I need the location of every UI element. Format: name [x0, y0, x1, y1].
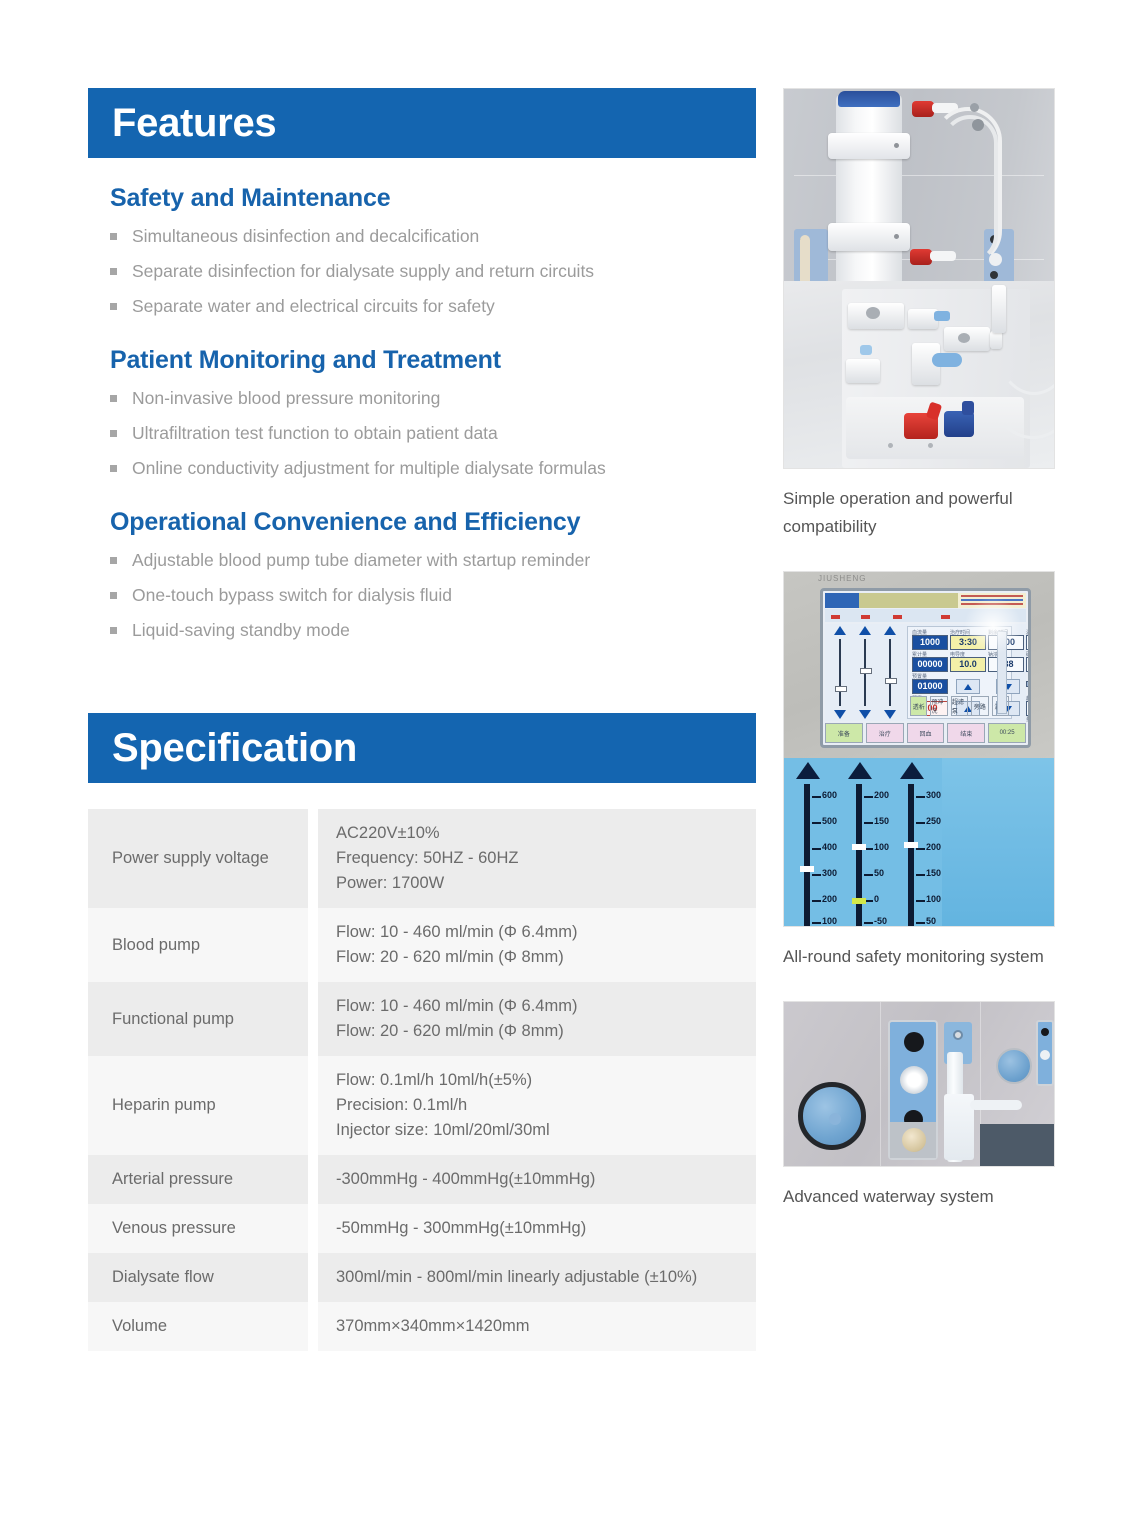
specification-band: Specification — [88, 713, 756, 783]
table-row: Functional pump Flow: 10 - 460 ml/min (Φ… — [88, 982, 756, 1056]
spec-value: 370mm×340mm×1420mm — [318, 1302, 756, 1351]
feature-bullet-list: Simultaneous disinfection and decalcific… — [88, 219, 756, 324]
bullet-square-icon — [110, 303, 117, 310]
triangle-up-icon[interactable] — [884, 626, 896, 635]
figures-column: Simple operation and powerful compatibil… — [783, 88, 1055, 1211]
screen-button[interactable]: 治疗 — [866, 723, 904, 743]
connector-port-dark — [1041, 1028, 1049, 1036]
table-row: Dialysate flow 300ml/min - 800ml/min lin… — [88, 1253, 756, 1302]
red-connector-upper — [912, 101, 934, 117]
panel-seam — [880, 1002, 881, 1166]
bullet-square-icon — [110, 557, 117, 564]
feature-bullet-item: Ultrafiltration test function to obtain … — [110, 416, 756, 451]
spec-label: Volume — [88, 1302, 308, 1351]
table-row: Heparin pump Flow: 0.1ml/h 10ml/h(±5%) P… — [88, 1056, 756, 1155]
figure-control-panel: JIUSHENG — [783, 571, 1055, 971]
features-body: Safety and Maintenance Simultaneous disi… — [88, 158, 756, 648]
panel-port — [970, 103, 979, 112]
triangle-down-icon[interactable] — [884, 710, 896, 719]
spec-label: Functional pump — [88, 982, 308, 1056]
bracket-hole — [990, 271, 998, 279]
feature-group-patient-monitoring-and-treatment: Patient Monitoring and Treatment Non-inv… — [88, 346, 756, 486]
value-field[interactable]: 1000 — [912, 635, 948, 650]
table-row: Blood pump Flow: 10 - 460 ml/min (Φ 6.4m… — [88, 908, 756, 982]
screen-timer: 00:25 — [988, 723, 1026, 743]
screen-button[interactable]: 旁路 — [971, 696, 988, 716]
menu-marker — [941, 615, 950, 619]
progress-indicator — [1026, 681, 1031, 687]
spec-label: Power supply voltage — [88, 809, 308, 908]
feature-bullet-item: Separate disinfection for dialysate supp… — [110, 254, 756, 289]
value-field[interactable]: 36.4 — [1026, 635, 1031, 650]
bullet-square-icon — [110, 268, 117, 275]
value-field[interactable]: 032 — [1026, 657, 1031, 672]
feature-group-safety-and-maintenance: Safety and Maintenance Simultaneous disi… — [88, 184, 756, 324]
spec-label: Arterial pressure — [88, 1155, 308, 1204]
clamp-screw — [894, 234, 899, 239]
screen-button[interactable]: 超滤泵 — [951, 696, 968, 716]
horizontal-handle — [970, 1100, 1022, 1110]
slider-group — [829, 626, 903, 719]
connector-port-white — [900, 1066, 928, 1094]
feature-bullet-list: Non-invasive blood pressure monitoring U… — [88, 381, 756, 486]
gauge-bar — [856, 784, 862, 926]
table-row: Volume 370mm×340mm×1420mm — [88, 1302, 756, 1351]
spec-value: Flow: 10 - 460 ml/min (Φ 6.4mm) Flow: 20… — [318, 908, 756, 982]
panel-screw — [888, 443, 893, 448]
column-gap — [308, 1302, 318, 1351]
triangle-up-icon[interactable] — [859, 626, 871, 635]
cartridge-clamp-lower — [828, 223, 910, 251]
feature-bullet-item: Liquid-saving standby mode — [110, 613, 756, 648]
feature-bullet-text: One-touch bypass switch for dialysis flu… — [132, 585, 452, 605]
column-gap — [308, 1056, 318, 1155]
gauge-cursor — [904, 842, 918, 848]
status-badge — [825, 593, 859, 608]
brand-text: JIUSHENG — [818, 574, 866, 583]
waterway-detail-photo — [783, 1001, 1055, 1167]
panel-port — [972, 119, 984, 131]
features-section: Features Safety and Maintenance Simultan… — [88, 88, 756, 648]
triangle-up-icon — [848, 762, 872, 779]
screen-button[interactable]: 准备 — [825, 723, 863, 743]
screen-button-row: 透析 预冲洗 超滤泵 旁路 消毒 — [910, 696, 1009, 716]
panel-seam — [794, 175, 1044, 176]
screen-button[interactable]: 预冲洗 — [930, 696, 947, 716]
control-panel-photo: JIUSHENG — [783, 571, 1055, 927]
shadow-area — [980, 1124, 1054, 1166]
figure-caption: Advanced waterway system — [783, 1183, 1055, 1211]
clip-opening — [866, 307, 880, 319]
value-field[interactable]: 10.0 — [950, 657, 986, 672]
triangle-up-icon[interactable] — [834, 626, 846, 635]
table-row: Arterial pressure -300mmHg - 400mmHg(±10… — [88, 1155, 756, 1204]
increment-button[interactable] — [956, 679, 980, 694]
small-blue-knob[interactable] — [996, 1048, 1032, 1084]
screen-bottom-buttons: 准备 治疗 回血 结束 00:25 — [825, 723, 1026, 743]
bullet-square-icon — [110, 233, 117, 240]
red-connector-lever — [904, 413, 938, 439]
cartridge-clamp-upper — [828, 133, 910, 159]
feature-bullet-list: Adjustable blood pump tube diameter with… — [88, 543, 756, 648]
feature-bullet-item: Adjustable blood pump tube diameter with… — [110, 543, 756, 578]
gauge-cursor-active — [852, 898, 866, 904]
cartridge-top-cap — [838, 91, 900, 107]
blue-valve-handle — [932, 353, 962, 367]
slider-knob[interactable] — [835, 686, 847, 692]
spec-value: Flow: 0.1ml/h 10ml/h(±5%) Precision: 0.1… — [318, 1056, 756, 1155]
tube-clip — [846, 359, 880, 383]
spec-label: Blood pump — [88, 908, 308, 982]
blue-lever — [934, 311, 950, 321]
menu-marker — [861, 615, 870, 619]
flexible-tube — [942, 115, 998, 263]
spec-value: AC220V±10% Frequency: 50HZ - 60HZ Power:… — [318, 809, 756, 908]
bullet-square-icon — [110, 592, 117, 599]
screen-button[interactable]: 回血 — [907, 723, 945, 743]
zoomed-gauge-strip: 600 500 400 300 200 100 200 150 — [784, 758, 1054, 926]
large-blue-knob[interactable] — [798, 1082, 866, 1150]
slider-knob[interactable] — [885, 678, 897, 684]
slider-rail — [839, 639, 841, 706]
triangle-up-icon — [900, 762, 924, 779]
column-gap — [308, 1155, 318, 1204]
blue-connector-lever — [944, 411, 974, 437]
figure-caption: All-round safety monitoring system — [783, 943, 1055, 971]
bullet-square-icon — [110, 430, 117, 437]
feature-bullet-item: Separate water and electrical circuits f… — [110, 289, 756, 324]
panel-screw — [928, 443, 933, 448]
slider-knob[interactable] — [860, 668, 872, 674]
connector-port-white — [1040, 1050, 1050, 1060]
feature-bullet-text: Online conductivity adjustment for multi… — [132, 458, 606, 478]
table-row: Venous pressure -50mmHg - 300mmHg(±10mmH… — [88, 1204, 756, 1253]
menu-marker — [893, 615, 902, 619]
spec-value: Flow: 10 - 460 ml/min (Φ 6.4mm) Flow: 20… — [318, 982, 756, 1056]
feature-bullet-text: Ultrafiltration test function to obtain … — [132, 423, 498, 443]
brass-nut — [902, 1128, 926, 1152]
feature-group-heading: Operational Convenience and Efficiency — [110, 508, 756, 537]
vertical-slider[interactable] — [854, 626, 876, 719]
feature-bullet-item: One-touch bypass switch for dialysis flu… — [110, 578, 756, 613]
screen-button[interactable]: 结束 — [947, 723, 985, 743]
value-field[interactable]: 01000 — [912, 679, 948, 694]
value-field[interactable]: 00000 — [912, 657, 948, 672]
figure-caption: Simple operation and powerful compatibil… — [783, 485, 1055, 541]
specification-section: Specification Power supply voltage AC220… — [88, 713, 756, 1351]
feature-group-heading: Safety and Maintenance — [110, 184, 756, 213]
spec-label: Heparin pump — [88, 1056, 308, 1155]
gauge-column: 200 150 100 50 0 -50 — [836, 758, 888, 926]
vertical-slider[interactable] — [879, 626, 901, 719]
triangle-down-icon[interactable] — [834, 710, 846, 719]
spec-label: Dialysate flow — [88, 1253, 308, 1302]
gauge-cursor — [852, 844, 866, 850]
column-gap — [308, 982, 318, 1056]
features-band: Features — [88, 88, 756, 158]
table-row: Power supply voltage AC220V±10% Frequenc… — [88, 809, 756, 908]
column-gap — [308, 1204, 318, 1253]
feature-bullet-text: Liquid-saving standby mode — [132, 620, 350, 640]
figure-dialyser-waterway: Simple operation and powerful compatibil… — [783, 88, 1055, 541]
feature-bullet-text: Simultaneous disinfection and decalcific… — [132, 226, 479, 246]
gauge-bar — [804, 784, 810, 926]
spec-value: 300ml/min - 800ml/min linearly adjustabl… — [318, 1253, 756, 1302]
figure-waterway-detail: Advanced waterway system — [783, 1001, 1055, 1211]
screen-glare — [964, 597, 1022, 655]
gauge-column: 300 250 200 150 100 50 — [888, 758, 940, 926]
pressure-gauges: 600 500 400 300 200 100 200 150 — [784, 758, 942, 926]
connector-port-dark — [904, 1032, 924, 1052]
feature-bullet-item: Simultaneous disinfection and decalcific… — [110, 219, 756, 254]
column-gap — [308, 1253, 318, 1302]
bullet-square-icon — [110, 627, 117, 634]
bullet-square-icon — [110, 465, 117, 472]
feature-group-operational-convenience-and-efficiency: Operational Convenience and Efficiency A… — [88, 508, 756, 648]
vertical-slider[interactable] — [829, 626, 851, 719]
feature-bullet-text: Separate water and electrical circuits f… — [132, 296, 495, 316]
spec-value: -300mmHg - 400mmHg(±10mmHg) — [318, 1155, 756, 1204]
feature-bullet-text: Separate disinfection for dialysate supp… — [132, 261, 594, 281]
right-connector-strip — [1036, 1020, 1054, 1086]
document-page: Features Safety and Maintenance Simultan… — [0, 0, 1134, 1528]
feature-group-heading: Patient Monitoring and Treatment — [110, 346, 756, 375]
features-band-title: Features — [112, 103, 276, 143]
blue-indicator — [860, 345, 872, 355]
clip-opening — [958, 333, 970, 343]
spec-label: Venous pressure — [88, 1204, 308, 1253]
specification-band-title: Specification — [112, 728, 357, 768]
triangle-up-icon — [796, 762, 820, 779]
dialyser-waterway-photo — [783, 88, 1055, 469]
touchscreen-display: 血流量 1000 治疗时间 3:30 剩余时间 1:00 温度 36.4 累计量… — [820, 588, 1031, 748]
feature-bullet-text: Adjustable blood pump tube diameter with… — [132, 550, 590, 570]
menu-marker — [831, 615, 840, 619]
feature-bullet-item: Non-invasive blood pressure monitoring — [110, 381, 756, 416]
spec-value: -50mmHg - 300mmHg(±10mmHg) — [318, 1204, 756, 1253]
specification-table: Power supply voltage AC220V±10% Frequenc… — [88, 809, 756, 1351]
column-gap — [308, 908, 318, 982]
clamp-screw — [894, 143, 899, 148]
bullet-square-icon — [110, 395, 117, 402]
feature-bullet-item: Online conductivity adjustment for multi… — [110, 451, 756, 486]
gauge-cursor — [800, 866, 814, 872]
screen-button[interactable]: 透析 — [910, 696, 927, 716]
gauge-column: 600 500 400 300 200 100 — [784, 758, 836, 926]
alarm-banner — [859, 593, 958, 608]
red-connector-lower — [910, 249, 932, 265]
value-field[interactable]: 200 — [1026, 701, 1031, 716]
slider-rail — [889, 639, 891, 706]
gauge-bar — [908, 784, 914, 926]
lower-waterway-panel — [784, 281, 1054, 468]
triangle-down-icon[interactable] — [859, 710, 871, 719]
column-gap — [308, 809, 318, 908]
connector-strip — [888, 1020, 938, 1160]
feature-bullet-text: Non-invasive blood pressure monitoring — [132, 388, 440, 408]
